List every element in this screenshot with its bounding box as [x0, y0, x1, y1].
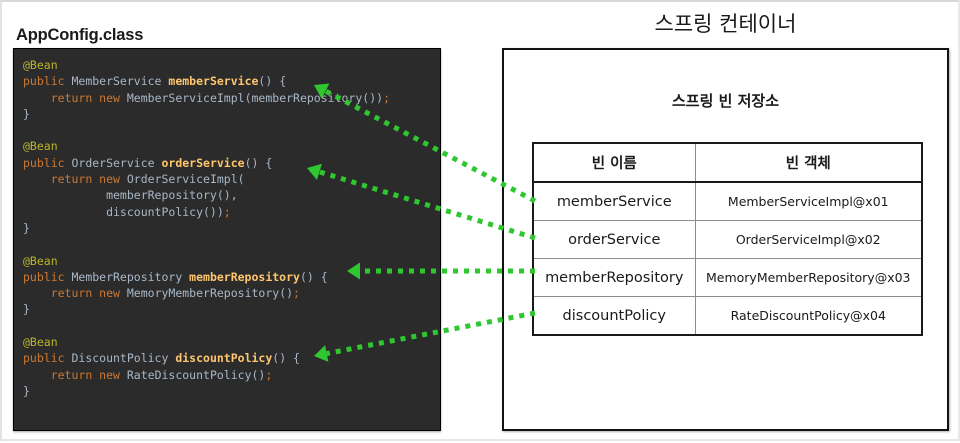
- code-line: memberRepository(),: [23, 187, 390, 203]
- code-line: [23, 318, 390, 334]
- appconfig-code-panel: AppConfig.class @Beanpublic MemberServic…: [10, 4, 442, 441]
- code-token: @Bean: [23, 335, 58, 349]
- code-line: }: [23, 106, 390, 122]
- cell-bean-name: memberService: [533, 182, 695, 221]
- diagram-root: AppConfig.class @Beanpublic MemberServic…: [0, 0, 960, 441]
- code-line: }: [23, 301, 390, 317]
- cell-bean-name: discountPolicy: [533, 297, 695, 336]
- column-header-bean-name: 빈 이름: [533, 143, 695, 182]
- code-line: @Bean: [23, 253, 390, 269]
- bean-table-head: 빈 이름 빈 객체: [533, 143, 922, 182]
- table-row: discountPolicyRateDiscountPolicy@x04: [533, 297, 922, 336]
- code-line: return new MemoryMemberRepository();: [23, 285, 390, 301]
- code-token: OrderServiceImpl(: [127, 172, 245, 186]
- bean-table: 빈 이름 빈 객체 memberServiceMemberServiceImpl…: [532, 142, 923, 336]
- code-token: @Bean: [23, 139, 58, 153]
- code-block: @Beanpublic MemberService memberService(…: [13, 48, 441, 431]
- code-token: @Bean: [23, 254, 58, 268]
- code-line: }: [23, 383, 390, 399]
- code-line: }: [23, 220, 390, 236]
- code-token: MemberServiceImpl(memberRepository()): [127, 91, 383, 105]
- code-line: @Bean: [23, 334, 390, 350]
- code-token: public: [23, 270, 71, 284]
- code-line: public OrderService orderService() {: [23, 155, 390, 171]
- code-text: @Beanpublic MemberService memberService(…: [23, 57, 390, 399]
- column-header-bean-object: 빈 객체: [695, 143, 922, 182]
- code-line: @Bean: [23, 57, 390, 73]
- code-token: memberRepository(),: [23, 188, 238, 202]
- code-token: }: [23, 221, 30, 235]
- code-line: [23, 236, 390, 252]
- code-token: () {: [258, 74, 286, 88]
- code-token: public: [23, 156, 71, 170]
- code-line: [23, 122, 390, 138]
- cell-bean-object: OrderServiceImpl@x02: [695, 221, 922, 259]
- code-token: MemoryMemberRepository(): [127, 286, 293, 300]
- code-token: ;: [383, 91, 390, 105]
- cell-bean-name: orderService: [533, 221, 695, 259]
- code-token: () {: [245, 156, 273, 170]
- code-token: RateDiscountPolicy(): [127, 368, 265, 382]
- code-line: public MemberRepository memberRepository…: [23, 269, 390, 285]
- cell-bean-object: MemberServiceImpl@x01: [695, 182, 922, 221]
- code-line: public MemberService memberService() {: [23, 73, 390, 89]
- code-token: return new: [51, 91, 127, 105]
- code-token: MemberRepository: [71, 270, 189, 284]
- code-line: @Bean: [23, 138, 390, 154]
- spring-bean-store-title: 스프링 빈 저장소: [502, 90, 949, 111]
- code-token: [23, 286, 51, 300]
- code-token: return new: [51, 172, 127, 186]
- table-row: memberServiceMemberServiceImpl@x01: [533, 182, 922, 221]
- code-line: public DiscountPolicy discountPolicy() {: [23, 350, 390, 366]
- bean-table-body: memberServiceMemberServiceImpl@x01orderS…: [533, 182, 922, 335]
- code-token: discountPolicy()): [23, 205, 224, 219]
- code-token: ;: [224, 205, 231, 219]
- code-token: [23, 368, 51, 382]
- code-token: () {: [300, 270, 328, 284]
- code-token: MemberService: [71, 74, 168, 88]
- code-token: }: [23, 107, 30, 121]
- table-row: orderServiceOrderServiceImpl@x02: [533, 221, 922, 259]
- code-token: }: [23, 384, 30, 398]
- code-token: ;: [293, 286, 300, 300]
- code-line: return new MemberServiceImpl(memberRepos…: [23, 90, 390, 106]
- cell-bean-name: memberRepository: [533, 259, 695, 297]
- table-row: memberRepositoryMemoryMemberRepository@x…: [533, 259, 922, 297]
- code-token: return new: [51, 286, 127, 300]
- code-token: return new: [51, 368, 127, 382]
- code-token: () {: [272, 351, 300, 365]
- code-line: return new OrderServiceImpl(: [23, 171, 390, 187]
- code-token: memberService: [168, 74, 258, 88]
- code-token: memberRepository: [189, 270, 300, 284]
- code-token: orderService: [161, 156, 244, 170]
- code-token: ;: [265, 368, 272, 382]
- code-token: public: [23, 74, 71, 88]
- code-panel-title: AppConfig.class: [16, 26, 143, 45]
- code-token: DiscountPolicy: [71, 351, 175, 365]
- cell-bean-object: MemoryMemberRepository@x03: [695, 259, 922, 297]
- code-token: }: [23, 302, 30, 316]
- code-token: public: [23, 351, 71, 365]
- code-token: [23, 91, 51, 105]
- code-token: OrderService: [71, 156, 161, 170]
- code-line: return new RateDiscountPolicy();: [23, 367, 390, 383]
- code-token: @Bean: [23, 58, 58, 72]
- spring-container-title: 스프링 컨테이너: [502, 8, 949, 38]
- code-line: discountPolicy());: [23, 204, 390, 220]
- table-header-row: 빈 이름 빈 객체: [533, 143, 922, 182]
- cell-bean-object: RateDiscountPolicy@x04: [695, 297, 922, 336]
- code-token: [23, 172, 51, 186]
- code-token: discountPolicy: [175, 351, 272, 365]
